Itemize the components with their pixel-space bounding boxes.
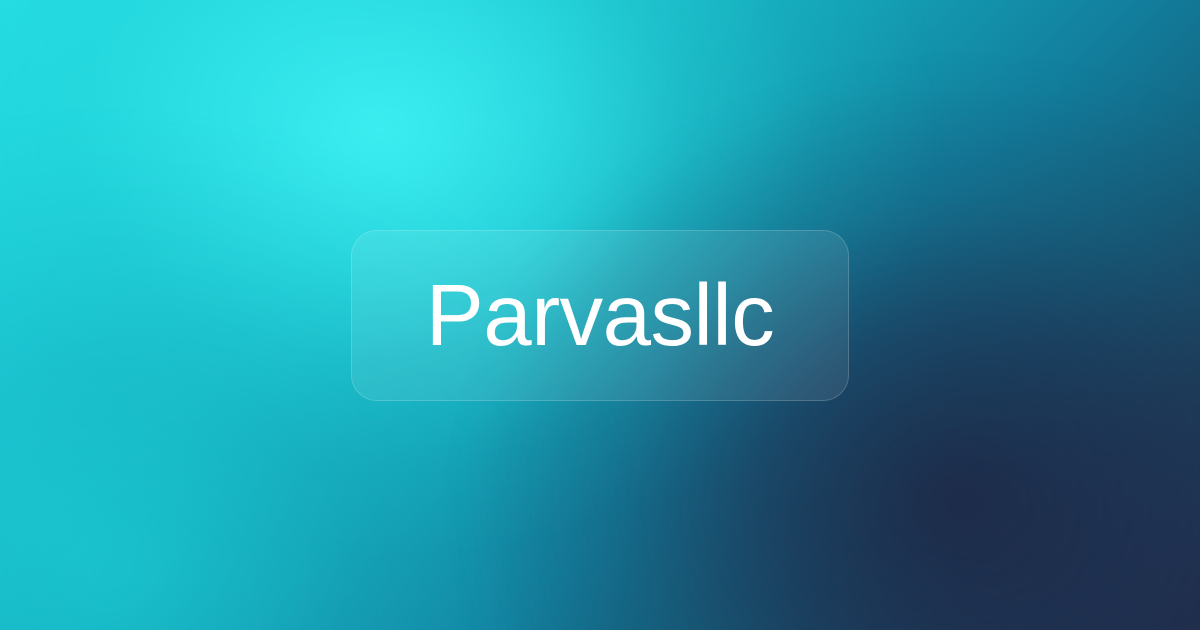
page-title: Parvasllc	[426, 272, 774, 359]
card-center-layer: Parvasllc	[0, 0, 1200, 630]
open-graph-preview-canvas: Parvasllc	[0, 0, 1200, 630]
title-card: Parvasllc	[351, 230, 849, 401]
